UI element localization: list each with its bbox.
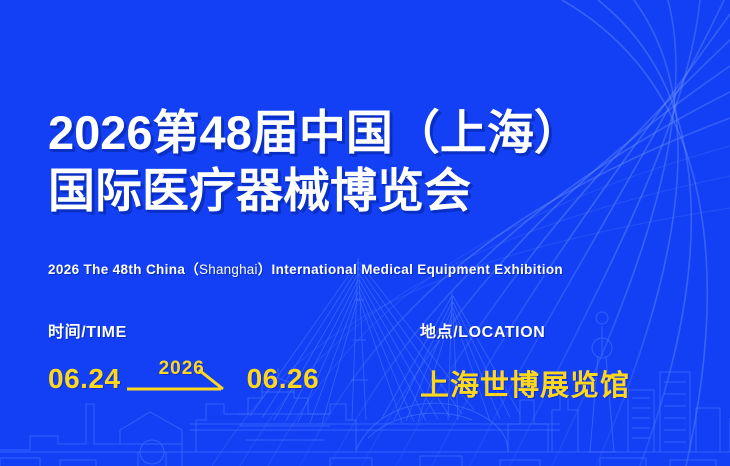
subtitle-prefix: 2026 The 48th China（ — [48, 262, 199, 277]
location-value: 上海世博展览馆 — [420, 362, 630, 404]
end-date: 06.26 — [247, 363, 320, 395]
location-column: 地点/LOCATION 上海世博展览馆 — [420, 318, 630, 404]
location-label: 地点/LOCATION — [420, 318, 630, 342]
time-value: 06.24 2026 06.26 — [48, 362, 319, 396]
exhibition-poster: 2026第48届中国（上海） 国际医疗器械博览会 2026 The 48th C… — [0, 0, 730, 466]
title-line-1: 2026第48届中国（上海） — [48, 104, 708, 162]
time-label: 时间/TIME — [48, 318, 319, 342]
title-line-2: 国际医疗器械博览会 — [48, 162, 708, 220]
time-column: 时间/TIME 06.24 2026 06.26 — [48, 318, 319, 396]
title-block: 2026第48届中国（上海） 国际医疗器械博览会 — [48, 104, 708, 220]
poster-content: 2026第48届中国（上海） 国际医疗器械博览会 2026 The 48th C… — [0, 0, 730, 466]
info-row: 时间/TIME 06.24 2026 06.26 地点/LOCATION 上海世… — [0, 318, 730, 428]
start-date: 06.24 — [48, 363, 121, 395]
year-arrow-graphic: 2026 — [125, 362, 243, 396]
subtitle-english: 2026 The 48th China（Shanghai）Internation… — [48, 258, 563, 278]
arrow-icon — [125, 362, 243, 396]
subtitle-city: Shanghai — [199, 262, 258, 277]
subtitle-suffix: ）International Medical Equipment Exhibit… — [258, 262, 563, 277]
